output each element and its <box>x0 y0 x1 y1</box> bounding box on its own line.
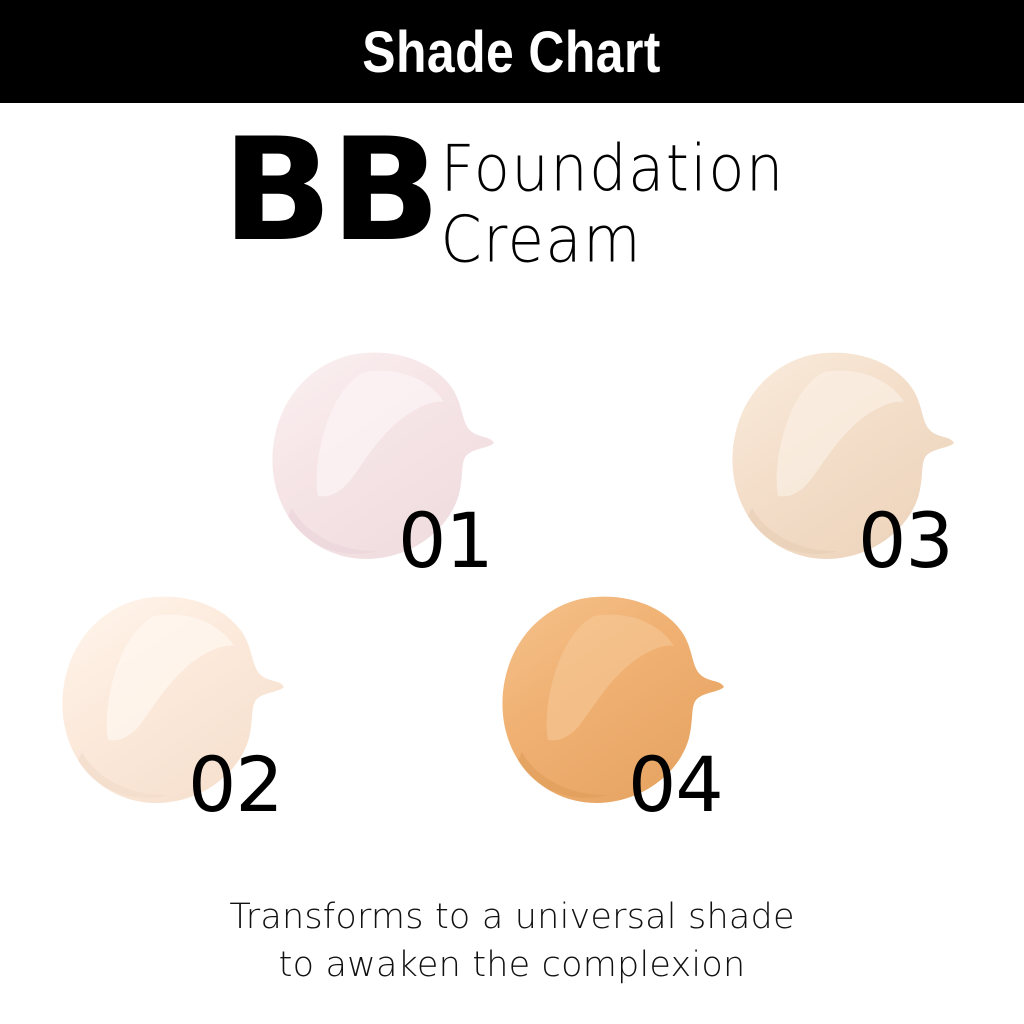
swatch-03[interactable]: 03 <box>728 348 958 568</box>
swatch-03-label: 03 <box>858 503 953 579</box>
swatch-04[interactable]: 04 <box>498 592 728 812</box>
swatch-02-label: 02 <box>188 747 283 823</box>
caption-line-2: to awaken the complexion <box>0 941 1024 989</box>
page-title: Shade Chart <box>363 24 662 82</box>
swatch-02[interactable]: 02 <box>58 592 288 812</box>
logo-word-cream: Cream <box>440 208 784 272</box>
caption-line-1: Transforms to a universal shade <box>0 893 1024 941</box>
header-bar: Shade Chart <box>0 0 1024 103</box>
logo-mark-bb: BB <box>222 133 439 249</box>
swatch-01[interactable]: 01 <box>268 348 498 568</box>
logo-word-foundation: Foundation <box>440 137 784 201</box>
caption: Transforms to a universal shade to awake… <box>0 893 1024 990</box>
swatch-01-label: 01 <box>398 503 493 579</box>
shade-chart-page: Shade Chart BB Foundation Cream 01 <box>0 0 1024 1024</box>
product-logo: BB Foundation Cream <box>222 133 785 269</box>
logo-wordmark: Foundation Cream <box>440 139 784 269</box>
swatch-04-label: 04 <box>628 747 723 823</box>
